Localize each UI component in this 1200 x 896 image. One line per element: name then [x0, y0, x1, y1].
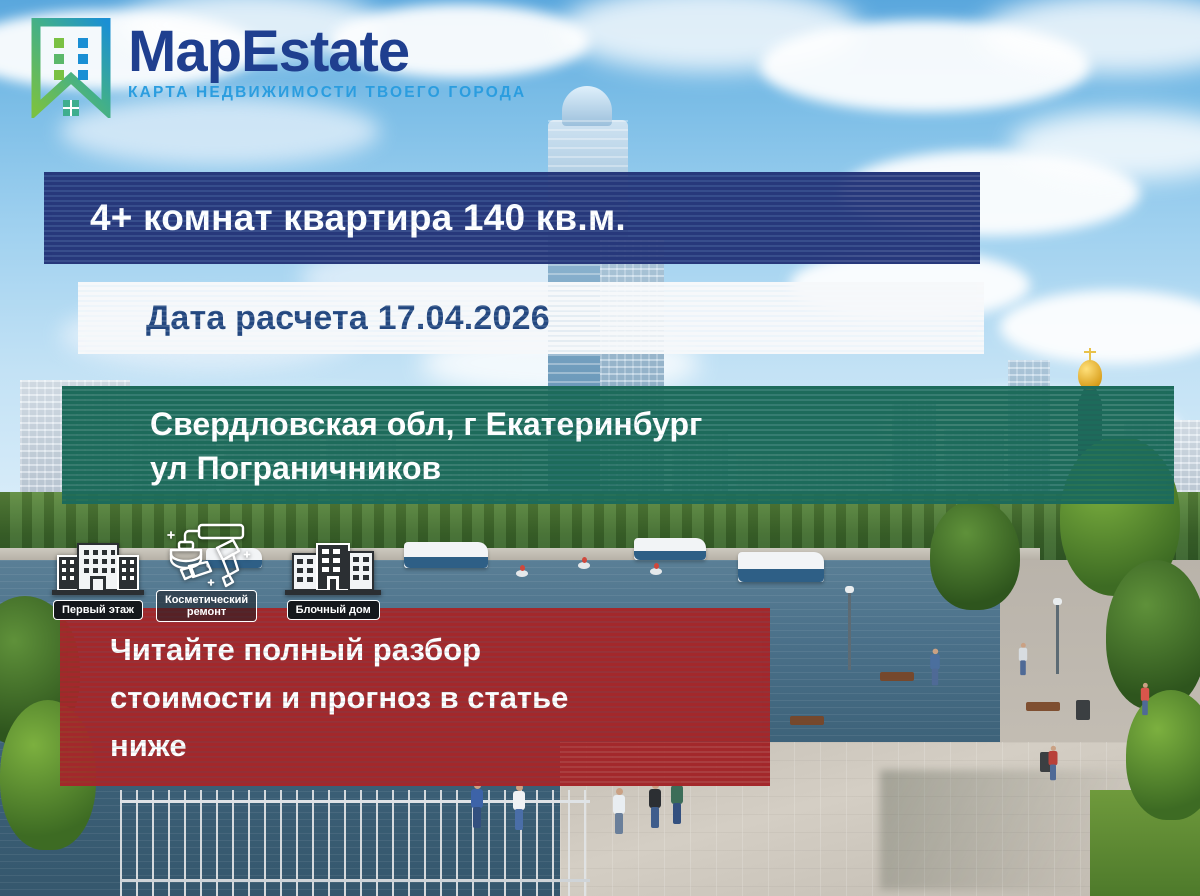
badge-first-floor-label: Первый этаж — [53, 600, 143, 620]
block-apartment-building-icon — [285, 538, 381, 598]
pedestrian — [512, 784, 526, 830]
office-building-icon — [52, 538, 144, 598]
pleasure-boat — [634, 538, 706, 560]
badge-block-house[interactable]: Блочный дом — [285, 538, 381, 620]
badge-cosmetic-renovation-label: Косметический ремонт — [156, 590, 257, 622]
pedestrian — [1018, 643, 1028, 675]
address-line-2: ул Пограничников — [150, 446, 1174, 490]
bench — [1026, 702, 1060, 711]
tree — [1106, 560, 1200, 710]
pedestrian — [1048, 746, 1059, 781]
brand-tagline: КАРТА НЕДВИЖИМОСТИ ТВОЕГО ГОРОДА — [128, 84, 526, 102]
small-boat — [650, 568, 662, 575]
small-boat — [516, 570, 528, 577]
calculation-date-banner: Дата расчета 17.04.2026 — [78, 282, 984, 354]
tree — [930, 500, 1020, 610]
map-bookmark-building-icon — [28, 18, 114, 118]
rooms-area-banner: 4+ комнат квартира 140 кв.м. — [44, 172, 980, 264]
bench — [880, 672, 914, 681]
brand-wordmark: MapEstate КАРТА НЕДВИЖИМОСТИ ТВОЕГО ГОРО… — [128, 18, 526, 102]
brand-title: MapEstate — [128, 22, 526, 82]
pedestrian — [648, 782, 662, 828]
street-lamp — [1056, 604, 1059, 674]
pedestrian — [612, 788, 626, 834]
cta-line-3: ниже — [110, 722, 770, 770]
brand-title-estate: Estate — [241, 19, 409, 84]
badge-cosmetic-renovation[interactable]: Косметический ремонт — [156, 522, 257, 622]
bench — [790, 716, 824, 725]
rooms-area-text: 4+ комнат квартира 140 кв.м. — [44, 172, 980, 264]
calculation-date-text: Дата расчета 17.04.2026 — [78, 282, 984, 354]
small-boat — [578, 562, 590, 569]
paint-roller-brush-icon — [159, 522, 255, 588]
cta-line-2: стоимости и прогноз в статье — [110, 674, 770, 722]
address-banner: Свердловская обл, г Екатеринбург ул Погр… — [62, 386, 1174, 504]
cta-line-1: Читайте полный разбор — [110, 626, 770, 674]
address-line-1: Свердловская обл, г Екатеринбург — [150, 402, 1174, 446]
pedestrian — [1140, 683, 1150, 715]
feature-badges: Первый этаж — [52, 522, 381, 620]
promo-card: MapEstate КАРТА НЕДВИЖИМОСТИ ТВОЕГО ГОРО… — [0, 0, 1200, 896]
cta-banner[interactable]: Читайте полный разбор стоимости и прогно… — [60, 608, 770, 786]
badge-first-floor[interactable]: Первый этаж — [52, 538, 144, 620]
badge-block-house-label: Блочный дом — [287, 600, 380, 620]
pedestrian — [470, 782, 484, 828]
pleasure-boat — [404, 542, 488, 568]
brand-logo[interactable]: MapEstate КАРТА НЕДВИЖИМОСТИ ТВОЕГО ГОРО… — [28, 18, 526, 118]
street-lamp — [848, 592, 851, 670]
trash-bin — [1076, 700, 1090, 720]
brand-title-map: Map — [128, 19, 241, 84]
pleasure-boat — [738, 552, 824, 582]
pedestrian — [929, 649, 940, 686]
